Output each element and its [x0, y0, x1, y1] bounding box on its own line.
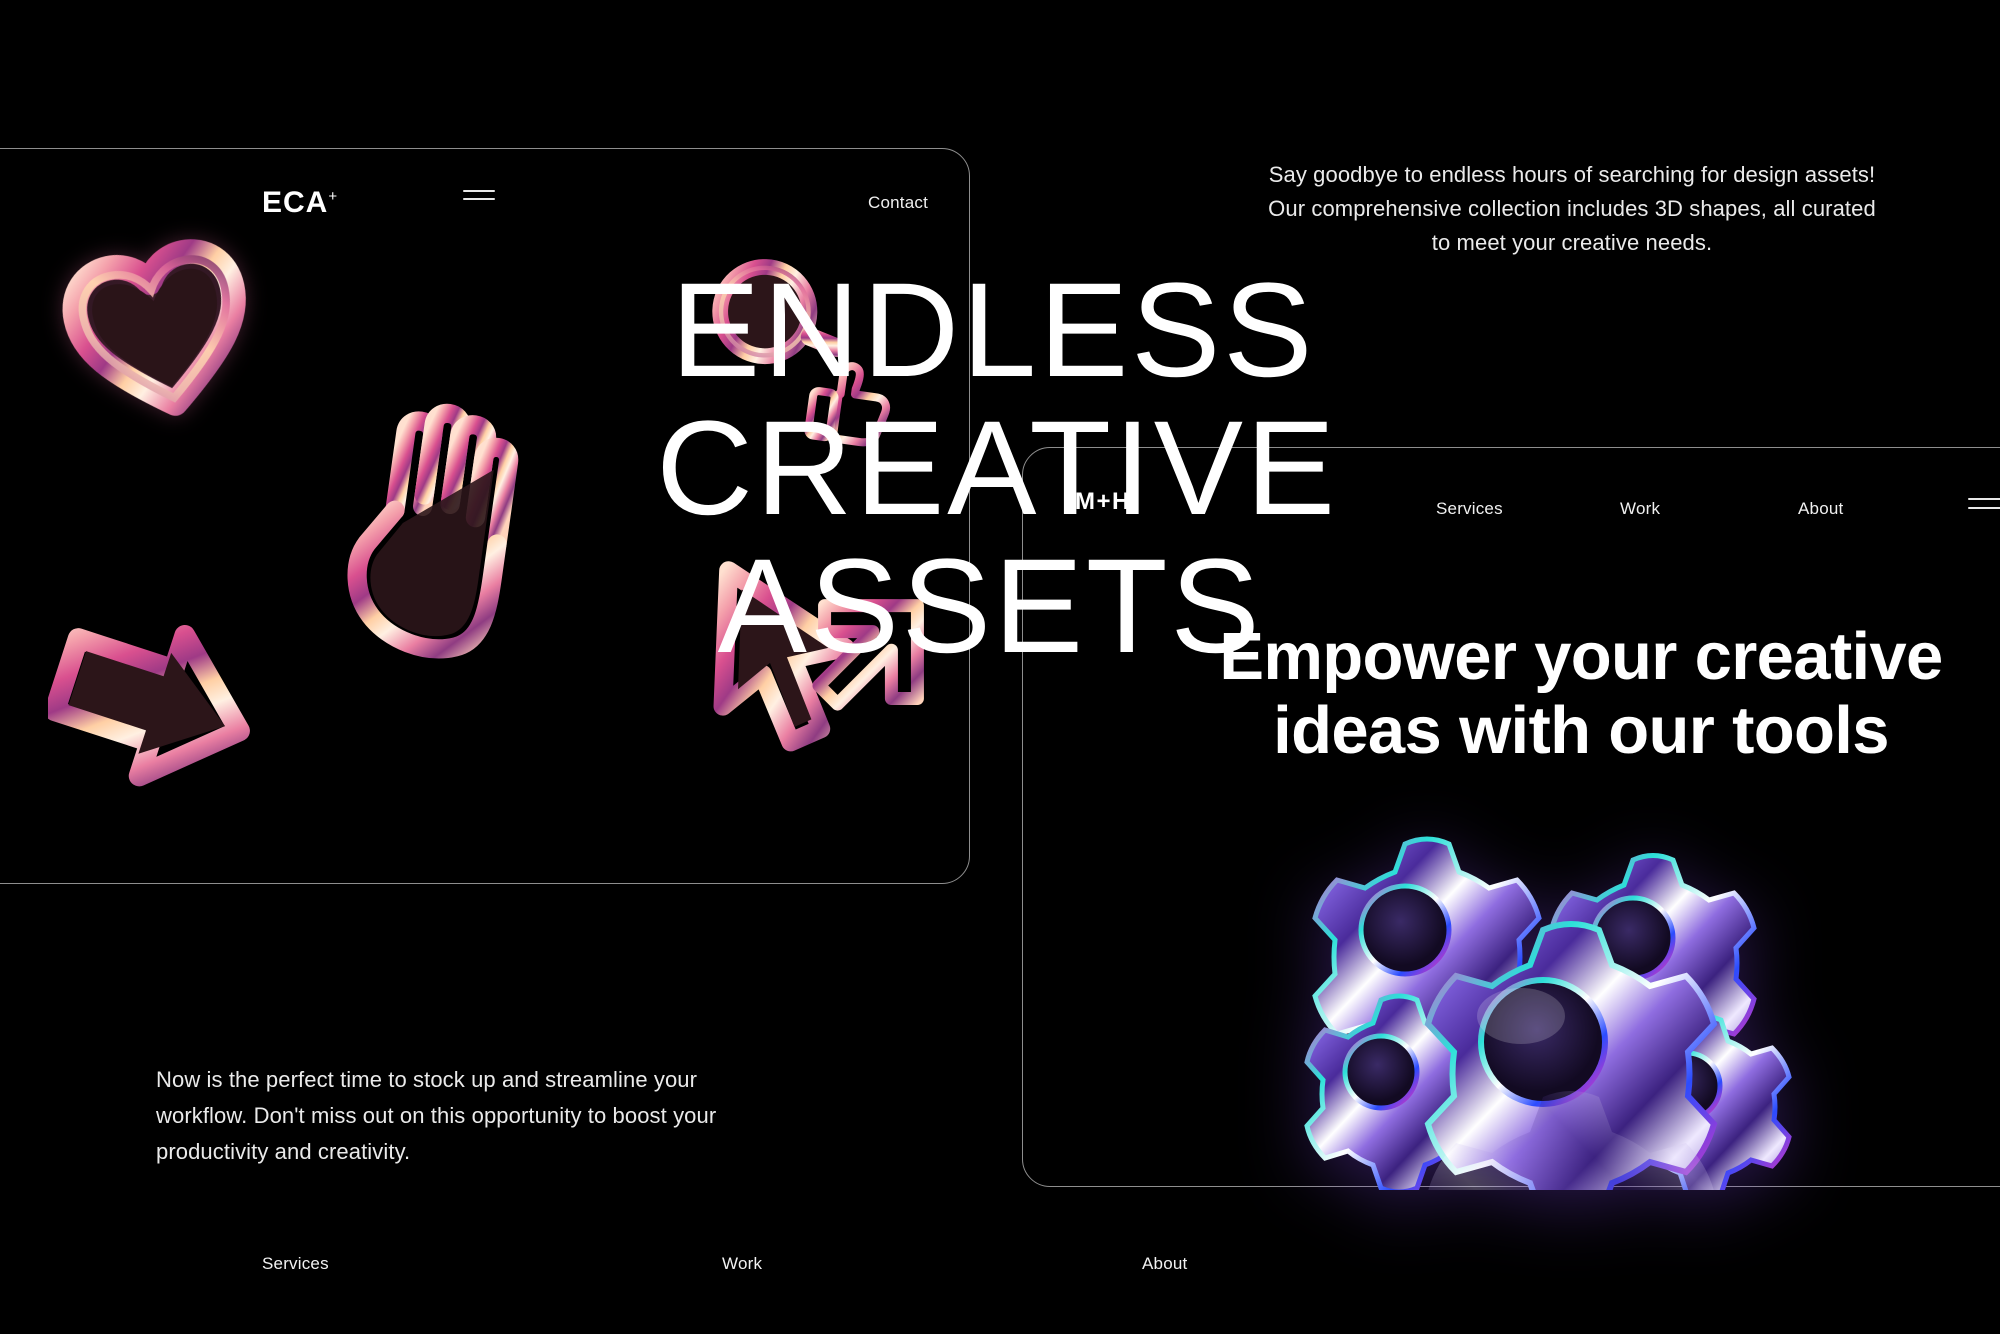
hamburger-line: [463, 190, 495, 192]
hamburger-line: [463, 198, 495, 200]
hamburger-menu-icon[interactable]: [1968, 498, 2000, 509]
nav-item-about[interactable]: About: [1798, 499, 1843, 519]
nav-item-work[interactable]: Work: [1620, 499, 1660, 519]
left-card-logo-superscript: +: [328, 188, 338, 205]
hamburger-menu-icon[interactable]: [463, 190, 495, 200]
right-card-logo[interactable]: M+H°: [1075, 490, 1137, 514]
nav-item-services[interactable]: Services: [262, 1254, 329, 1274]
right-card-headline: Empower your creative ideas with our too…: [1022, 620, 2000, 767]
gear-cluster-3d-icon: [1255, 790, 1795, 1190]
small-arrow-3d-icon: [806, 586, 936, 746]
nav-item-about[interactable]: About: [1142, 1254, 1187, 1274]
bottom-left-paragraph: Now is the perfect time to stock up and …: [156, 1062, 766, 1170]
heart-3d-icon: [44, 218, 275, 445]
top-right-paragraph: Say goodbye to endless hours of searchin…: [1268, 158, 1876, 260]
left-card-logo[interactable]: ECA+: [262, 188, 338, 218]
hamburger-line: [1968, 498, 2000, 500]
headline-line: Empower your creative: [1022, 620, 2000, 694]
headline-line: ideas with our tools: [1022, 694, 2000, 768]
nav-item-services[interactable]: Services: [1436, 499, 1503, 519]
left-card-bottom-nav: Services Work About: [0, 1254, 2000, 1278]
arrow-down-right-3d-icon: [48, 608, 258, 788]
nav-item-work[interactable]: Work: [722, 1254, 762, 1274]
hamburger-line: [1968, 507, 2000, 509]
right-card-logo-superscript: °: [1131, 489, 1137, 503]
contact-link[interactable]: Contact: [868, 193, 928, 213]
pointing-hand-3d-icon: [301, 366, 589, 688]
right-card-logo-text: M+H: [1075, 488, 1131, 515]
thumbs-up-3d-icon: [800, 354, 903, 452]
left-card-logo-text: ECA: [262, 186, 328, 219]
